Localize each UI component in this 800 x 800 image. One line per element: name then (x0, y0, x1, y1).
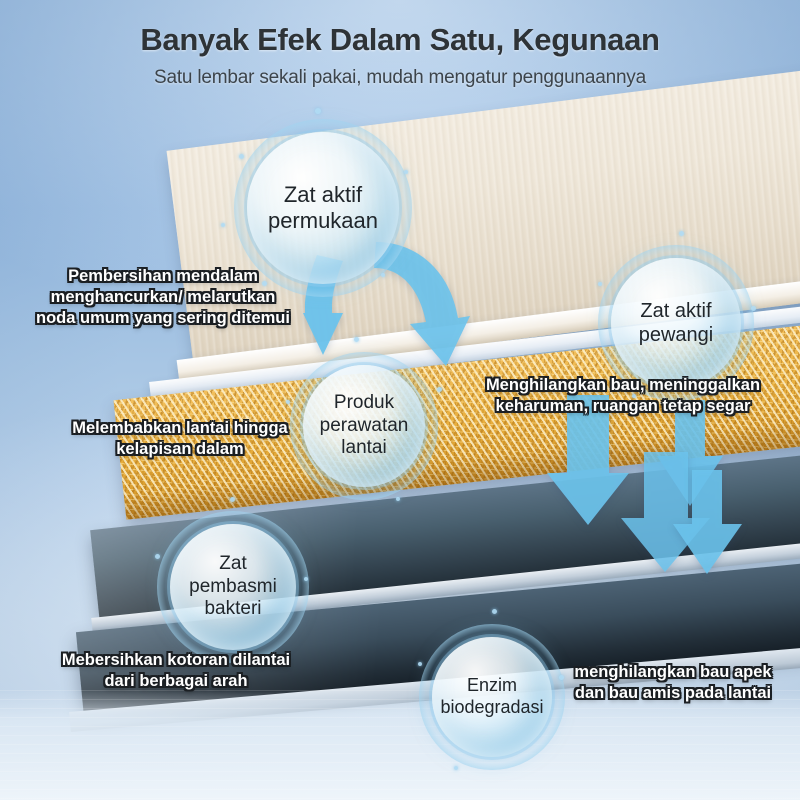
floor-reflection (0, 690, 800, 800)
callout-menghilangkan-bau-keharuman: Menghilangkan bau, meninggalkan keharuma… (462, 375, 784, 417)
bubble-label: Produk perawatan lantai (314, 392, 415, 460)
bubble-produk-perawatan-lantai: Produk perawatan lantai (303, 365, 425, 487)
callout-menghilangkan-bau-apek: menghilangkan bau apek dan bau amis pada… (551, 662, 795, 704)
callout-pembersihan-mendalam: Pembersihan mendalam menghancurkan/ mela… (18, 266, 308, 329)
penetration-arrow-6 (672, 470, 744, 578)
bubble-label: Zat aktif pewangi (633, 299, 720, 347)
bubble-label: Enzim biodegradasi (434, 675, 549, 718)
bubble-enzim-biodegradasi: Enzim biodegradasi (432, 637, 552, 757)
bubble-zat-aktif-permukaan: Zat aktif permukaan (247, 132, 399, 284)
bubble-zat-aktif-pewangi: Zat aktif pewangi (611, 258, 741, 388)
callout-melembabkan-lantai: Melembabkan lantai hingga kelapisan dala… (55, 418, 305, 460)
page-title: Banyak Efek Dalam Satu, Kegunaan (0, 22, 800, 58)
header: Banyak Efek Dalam Satu, Kegunaan Satu le… (0, 0, 800, 89)
bubble-label: Zat aktif permukaan (262, 182, 384, 235)
callout-mebersihkan-kotoran: Mebersihkan kotoran dilantai dari berbag… (45, 650, 307, 692)
bubble-label: Zat pembasmi bakteri (183, 553, 283, 621)
infographic-poster: Zat aktif permukaan Zat aktif pewangi Pr… (0, 0, 800, 800)
page-subtitle: Satu lembar sekali pakai, mudah mengatur… (0, 67, 800, 89)
bubble-zat-pembasmi-bakteri: Zat pembasmi bakteri (170, 524, 296, 650)
